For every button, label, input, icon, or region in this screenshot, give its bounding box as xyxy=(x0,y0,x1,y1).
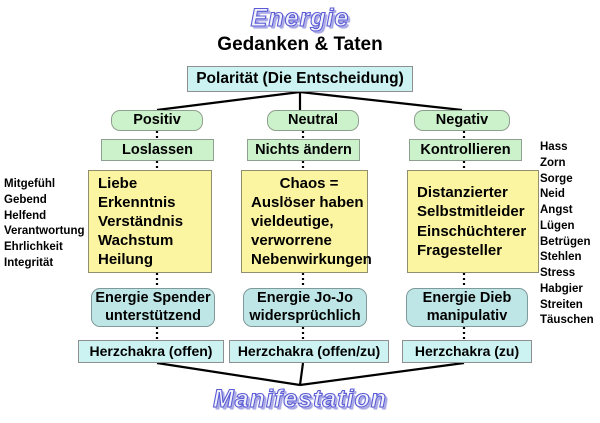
subtitle-gedanken-taten: Gedanken & Taten xyxy=(0,34,600,56)
box-qualities-negativ: Distanzierter Selbstmitleider Einschücht… xyxy=(407,170,539,273)
box-polaritaet: Polarität (Die Entscheidung) xyxy=(187,66,413,92)
quality-item: Chaos = xyxy=(280,174,339,193)
side-list-item: Stress xyxy=(540,266,594,282)
quality-item: Liebe xyxy=(98,174,137,193)
connector-chakra1-to-manifestation xyxy=(157,363,300,385)
box-energy-jojo-title: Energie Jo-Jo xyxy=(257,290,353,307)
side-list-item: Zorn xyxy=(540,156,594,172)
box-chakra-offen-zu: Herzchakra (offen/zu) xyxy=(229,340,389,363)
side-list-item: Hass xyxy=(540,140,594,156)
box-energy-dieb: Energie Dieb manipulativ xyxy=(406,288,528,327)
quality-item: Distanzierter xyxy=(417,183,508,202)
box-energy-jojo-subtitle: widersprüchlich xyxy=(249,308,360,325)
box-energy-spender-subtitle: unterstützend xyxy=(105,308,201,325)
quality-item: Nebenwirkungen xyxy=(251,250,372,269)
side-list-item: Verantwortung xyxy=(4,224,85,240)
box-action-nichts-aendern-label: Nichts ändern xyxy=(255,142,352,158)
connector-root-to-negativ xyxy=(300,92,462,110)
title-energie: Energie xyxy=(0,4,600,33)
box-polarity-neutral-label: Neutral xyxy=(288,112,338,128)
box-qualities-positiv: Liebe Erkenntnis Verständnis Wachstum He… xyxy=(88,170,212,273)
quality-item: Erkenntnis xyxy=(98,193,176,212)
side-list-item: Habgier xyxy=(540,282,594,298)
side-list-item: Lügen xyxy=(540,219,594,235)
quality-item: Wachstum xyxy=(98,231,173,250)
box-chakra-offen-zu-label: Herzchakra (offen/zu) xyxy=(238,344,380,360)
box-chakra-offen: Herzchakra (offen) xyxy=(78,340,224,363)
box-chakra-offen-label: Herzchakra (offen) xyxy=(90,344,213,360)
box-polaritaet-label: Polarität (Die Entscheidung) xyxy=(196,70,404,87)
box-energy-spender: Energie Spender unterstützend xyxy=(91,288,215,327)
box-polarity-negativ: Negativ xyxy=(414,110,510,131)
side-list-item: Mitgefühl xyxy=(4,177,85,193)
box-chakra-zu: Herzchakra (zu) xyxy=(402,340,532,363)
top-fan-connectors xyxy=(157,92,462,110)
connector-chakra2-to-manifestation xyxy=(300,363,303,385)
box-polarity-positiv: Positiv xyxy=(111,110,203,131)
box-energy-dieb-title: Energie Dieb xyxy=(423,290,512,307)
side-list-item: Integrität xyxy=(4,256,85,272)
connector-root-to-positiv xyxy=(157,92,300,110)
side-list-item: Ehrlichkeit xyxy=(4,240,85,256)
quality-item: Einschüchterer xyxy=(417,222,526,241)
box-energy-dieb-subtitle: manipulativ xyxy=(427,308,508,325)
quality-item: verworrene xyxy=(251,231,332,250)
box-chakra-zu-label: Herzchakra (zu) xyxy=(415,344,519,360)
side-list-item: Helfend xyxy=(4,209,85,225)
quality-item: Fragesteller xyxy=(417,241,502,260)
box-action-loslassen: Loslassen xyxy=(101,139,214,161)
side-list-item: Neid xyxy=(540,187,594,203)
side-list-item: Stehlen xyxy=(540,250,594,266)
side-list-item: Streiten xyxy=(540,298,594,314)
quality-item: Selbstmitleider xyxy=(417,202,525,221)
box-action-nichts-aendern: Nichts ändern xyxy=(247,139,360,161)
connector-chakra3-to-manifestation xyxy=(300,363,464,385)
energy-polarity-diagram: Energie Gedanken & Taten Polarität (Die … xyxy=(0,0,600,423)
box-energy-spender-title: Energie Spender xyxy=(95,290,210,307)
side-list-item: Sorge xyxy=(540,172,594,188)
side-list-negative-traits: Hass Zorn Sorge Neid Angst Lügen Betrüge… xyxy=(540,140,594,329)
box-polarity-positiv-label: Positiv xyxy=(133,112,181,128)
side-list-item: Täuschen xyxy=(540,313,594,329)
side-list-positive-traits: Mitgefühl Gebend Helfend Verantwortung E… xyxy=(4,177,85,272)
box-polarity-neutral: Neutral xyxy=(267,110,359,131)
quality-item: Auslöser haben xyxy=(251,193,364,212)
quality-item: Verständnis xyxy=(98,212,183,231)
quality-item: vieldeutige, xyxy=(251,212,334,231)
side-list-item: Angst xyxy=(540,203,594,219)
box-action-kontrollieren-label: Kontrollieren xyxy=(420,142,510,158)
side-list-item: Betrügen xyxy=(540,235,594,251)
box-action-kontrollieren: Kontrollieren xyxy=(409,139,522,161)
quality-item: Heilung xyxy=(98,250,153,269)
side-list-item: Gebend xyxy=(4,193,85,209)
box-qualities-neutral: Chaos = Auslöser haben vieldeutige, verw… xyxy=(241,170,368,273)
box-polarity-negativ-label: Negativ xyxy=(436,112,488,128)
bottom-fan-connectors xyxy=(157,363,464,385)
title-manifestation: Manifestation xyxy=(0,385,600,414)
box-action-loslassen-label: Loslassen xyxy=(122,142,193,158)
box-energy-jojo: Energie Jo-Jo widersprüchlich xyxy=(243,288,367,327)
